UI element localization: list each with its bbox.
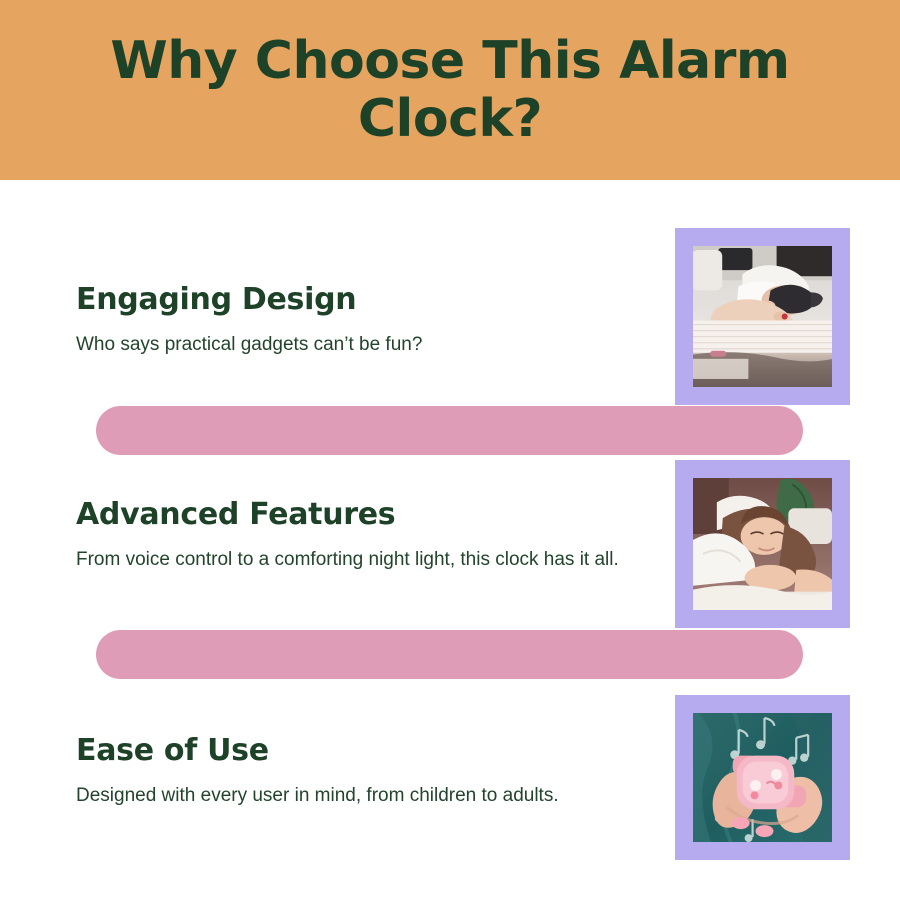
woman-sleeping-with-eye-mask-photo — [693, 246, 832, 387]
pink-pill-bar-2 — [96, 630, 803, 679]
feature-heading-2: Advanced Features — [76, 498, 656, 531]
page-title-line-1: Why Choose This Alarm — [110, 31, 789, 91]
feature-block-1: Engaging Design Who says practical gadge… — [76, 283, 656, 359]
feature-block-2: Advanced Features From voice control to … — [76, 498, 656, 574]
feature-body-3: Designed with every user in mind, from c… — [76, 783, 636, 810]
header-band: Why Choose This Alarm Clock? — [0, 0, 900, 180]
photo-frame-3 — [675, 695, 850, 860]
feature-body-1: Who says practical gadgets can’t be fun? — [76, 332, 636, 359]
page-title-line-2: Clock? — [358, 89, 542, 149]
feature-heading-1: Engaging Design — [76, 283, 656, 316]
pink-alarm-clock-in-hands-photo — [693, 713, 832, 842]
feature-body-2: From voice control to a comforting night… — [76, 547, 636, 574]
feature-heading-3: Ease of Use — [76, 734, 656, 767]
photo-frame-2 — [675, 460, 850, 628]
photo-frame-1 — [675, 228, 850, 405]
feature-block-3: Ease of Use Designed with every user in … — [76, 734, 656, 810]
pink-pill-bar-1 — [96, 406, 803, 455]
woman-sleeping-on-pillow-photo — [693, 478, 832, 610]
page-title: Why Choose This Alarm Clock? — [100, 32, 800, 148]
infographic-poster: Why Choose This Alarm Clock? Engaging De… — [0, 0, 900, 923]
